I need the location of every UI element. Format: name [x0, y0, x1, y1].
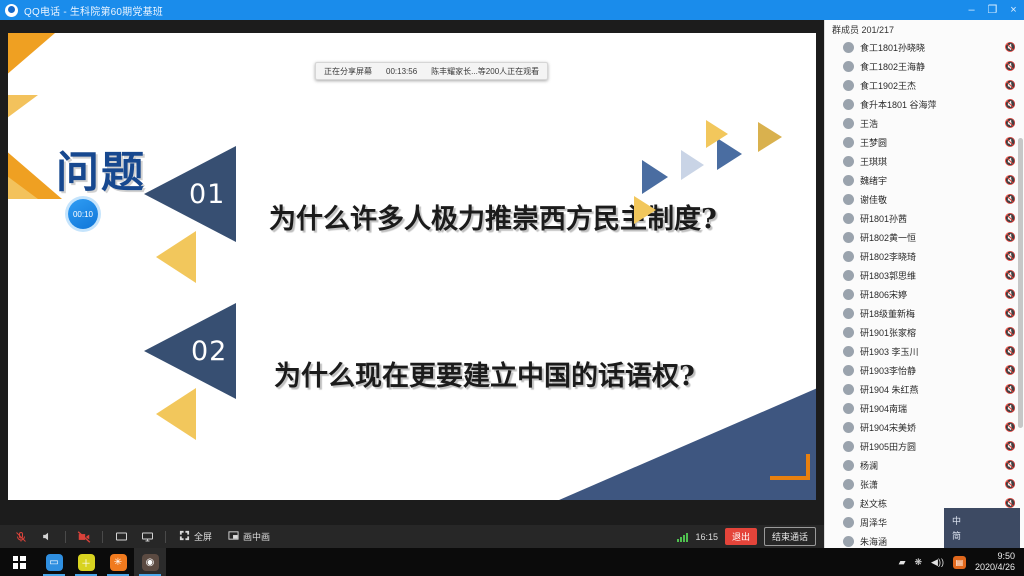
pip-button[interactable]: 画中画 [220, 525, 278, 548]
avatar [843, 251, 854, 262]
system-tray: ▰ ❋ ◀)) ▤ 9:50 2020/4/26 [899, 551, 1024, 573]
video-stage[interactable]: 问题 00:10 01 为什么许多人极力推崇西方民主制度? 02 为什么现在更要… [0, 20, 824, 525]
shared-slide: 问题 00:10 01 为什么许多人极力推崇西方民主制度? 02 为什么现在更要… [8, 33, 816, 500]
self-view-label: 中 简 [952, 514, 961, 544]
slide-timer-badge: 00:10 [68, 199, 98, 229]
member-row[interactable]: 食升本1801 谷海萍🔇 [825, 95, 1024, 114]
member-name: 食工1902王杰 [860, 79, 916, 92]
microphone-off-icon: 🔇 [1005, 118, 1016, 129]
decor-triangle-yellow-3 [758, 122, 782, 152]
microphone-off-icon: 🔇 [1005, 42, 1016, 53]
member-panel-header: 群成员 201/217 [825, 20, 1024, 38]
screen-share-banner: 正在分享屏幕 00:13:56 陈丰耀家长...等200人正在观看 [315, 62, 548, 80]
avatar [843, 422, 854, 433]
member-name: 王浩 [860, 117, 878, 130]
member-name: 研1904 朱红燕 [860, 383, 919, 396]
microphone-off-icon: 🔇 [1005, 61, 1016, 72]
microphone-off-icon: 🔇 [1005, 194, 1016, 205]
decor-orange-triangle-2 [8, 95, 38, 199]
member-name: 研1901张家榕 [860, 326, 916, 339]
start-button[interactable] [0, 548, 38, 576]
speaker-icon[interactable] [34, 525, 60, 548]
share-duration: 00:13:56 [386, 67, 417, 76]
avatar [843, 403, 854, 414]
member-name: 王梦圆 [860, 136, 887, 149]
member-name: 研1802黄一恒 [860, 231, 916, 244]
restore-button[interactable]: ❐ [982, 0, 1003, 20]
volume-icon[interactable]: ◀)) [931, 557, 944, 568]
camera-muted-icon[interactable] [71, 525, 97, 548]
member-name: 谢佳敬 [860, 193, 887, 206]
member-row[interactable]: 研1905田方圆🔇 [825, 437, 1024, 456]
avatar [843, 213, 854, 224]
avatar [843, 498, 854, 509]
end-call-button[interactable]: 结束通话 [764, 527, 816, 546]
windows-taskbar: ▭＋✳◉ ▰ ❋ ◀)) ▤ 9:50 2020/4/26 [0, 548, 1024, 576]
member-name: 张潇 [860, 478, 878, 491]
member-row[interactable]: 研1904南瑞🔇 [825, 399, 1024, 418]
member-row[interactable]: 研1903李怡静🔇 [825, 361, 1024, 380]
microphone-off-icon: 🔇 [1005, 289, 1016, 300]
microphone-off-icon: 🔇 [1005, 270, 1016, 281]
avatar [843, 80, 854, 91]
member-name: 王琪琪 [860, 155, 887, 168]
member-row[interactable]: 研1801孙茜🔇 [825, 209, 1024, 228]
window-title: QQ电话 - 生科院第60期党基班 [24, 3, 163, 18]
divider [165, 531, 166, 543]
member-name: 研1904南瑞 [860, 402, 907, 415]
avatar [843, 270, 854, 281]
self-view-thumbnail[interactable]: 中 简 [944, 508, 1020, 552]
monitor-icon[interactable] [108, 525, 134, 548]
divider [102, 531, 103, 543]
microphone-off-icon: 🔇 [1005, 251, 1016, 262]
member-row[interactable]: 食工1801孙晓晓🔇 [825, 38, 1024, 57]
member-name: 周泽华 [860, 516, 887, 529]
decor-orange-corner [770, 454, 810, 480]
microphone-off-icon: 🔇 [1005, 80, 1016, 91]
member-name: 研1903李怡静 [860, 364, 916, 377]
avatar [843, 118, 854, 129]
member-name: 研1803郭思维 [860, 269, 916, 282]
display-icon[interactable] [134, 525, 160, 548]
colorful-app-icon[interactable]: ✳ [102, 548, 134, 576]
microphone-off-icon: 🔇 [1005, 308, 1016, 319]
video-app-icon[interactable]: ▭ [38, 548, 70, 576]
member-name: 魏绪宇 [860, 174, 887, 187]
avatar [843, 156, 854, 167]
member-row[interactable]: 研1904 朱红燕🔇 [825, 380, 1024, 399]
avatar [843, 99, 854, 110]
member-name: 食工1801孙晓晓 [860, 41, 925, 54]
avatar [843, 365, 854, 376]
avatar [843, 289, 854, 300]
question-number-1: 01 [189, 179, 225, 210]
member-row[interactable]: 研1802李晓琦🔇 [825, 247, 1024, 266]
minimize-button[interactable]: – [961, 0, 982, 20]
avatar [843, 536, 854, 547]
member-row[interactable]: 王浩🔇 [825, 114, 1024, 133]
member-name: 研1905田方圆 [860, 440, 916, 453]
member-row[interactable]: 食工1902王杰🔇 [825, 76, 1024, 95]
avatar [843, 327, 854, 338]
member-list-scrollbar[interactable] [1018, 138, 1023, 428]
decor-triangle-yellow-2 [634, 196, 656, 224]
member-row[interactable]: 王梦圆🔇 [825, 133, 1024, 152]
decor-triangle-blue-1 [642, 160, 668, 194]
member-row[interactable]: 食工1802王海静🔇 [825, 57, 1024, 76]
screen: QQ电话 - 生科院第60期党基班 – ❐ × 问题 00:10 01 为什么许… [0, 0, 1024, 576]
microphone-muted-icon[interactable] [8, 525, 34, 548]
picture-in-picture-icon [228, 530, 239, 543]
pip-label: 画中画 [243, 530, 270, 543]
close-button[interactable]: × [1003, 0, 1024, 20]
member-name: 研1802李晓琦 [860, 250, 916, 263]
avatar [843, 61, 854, 72]
member-row[interactable]: 研1803郭思维🔇 [825, 266, 1024, 285]
qq-avatar-icon[interactable]: ◉ [134, 548, 166, 576]
share-status-text: 正在分享屏幕 [324, 66, 372, 77]
member-name: 研18级董新梅 [860, 307, 915, 320]
avatar [843, 346, 854, 357]
microphone-off-icon: 🔇 [1005, 156, 1016, 167]
member-list[interactable]: 食工1801孙晓晓🔇食工1802王海静🔇食工1902王杰🔇食升本1801 谷海萍… [825, 38, 1024, 548]
taskbar-apps: ▭＋✳◉ [38, 548, 166, 576]
member-name: 朱海涵 [860, 535, 887, 548]
tray-app-icon[interactable]: ▤ [953, 556, 966, 569]
member-name: 研1806宋婷 [860, 288, 907, 301]
member-name: 食工1802王海静 [860, 60, 925, 73]
member-row[interactable]: 研1802黄一恒🔇 [825, 228, 1024, 247]
avatar [843, 308, 854, 319]
microphone-off-icon: 🔇 [1005, 232, 1016, 243]
question-number-2: 02 [191, 336, 227, 367]
microphone-off-icon: 🔇 [1005, 346, 1016, 357]
divider [65, 531, 66, 543]
member-row[interactable]: 杨澜🔇 [825, 456, 1024, 475]
microphone-off-icon: 🔇 [1005, 422, 1016, 433]
decor-navy-wedge [536, 380, 816, 500]
member-name: 赵文栋 [860, 497, 887, 510]
network-icon[interactable]: ❋ [914, 557, 922, 568]
member-row[interactable]: 魏绪宇🔇 [825, 171, 1024, 190]
window-controls: – ❐ × [961, 0, 1024, 20]
member-name: 研1904宋美娇 [860, 421, 916, 434]
fullscreen-button[interactable]: 全屏 [171, 525, 220, 548]
microphone-off-icon: 🔇 [1005, 137, 1016, 148]
microphone-off-icon: 🔇 [1005, 441, 1016, 452]
member-row[interactable]: 谢佳敬🔇 [825, 190, 1024, 209]
microphone-off-icon: 🔇 [1005, 479, 1016, 490]
microphone-off-icon: 🔇 [1005, 403, 1016, 414]
share-viewers: 陈丰耀家长...等200人正在观看 [431, 66, 539, 77]
slide-heading: 问题 [56, 138, 146, 200]
microphone-off-icon: 🔇 [1005, 99, 1016, 110]
microphone-off-icon: 🔇 [1005, 365, 1016, 376]
avatar [843, 42, 854, 53]
microphone-off-icon: 🔇 [1005, 327, 1016, 338]
member-row[interactable]: 张潇🔇 [825, 475, 1024, 494]
avatar [843, 175, 854, 186]
decor-triangle-yellow-1 [706, 120, 728, 148]
member-row[interactable]: 研1903 李玉川🔇 [825, 342, 1024, 361]
member-row[interactable]: 研1904宋美娇🔇 [825, 418, 1024, 437]
microphone-off-icon: 🔇 [1005, 213, 1016, 224]
signal-bars-icon [677, 532, 688, 542]
avatar [843, 479, 854, 490]
member-name: 杨澜 [860, 459, 878, 472]
microphone-off-icon: 🔇 [1005, 175, 1016, 186]
qq-penguin-icon [5, 4, 18, 17]
member-row[interactable]: 王琪琪🔇 [825, 152, 1024, 171]
window-title-bar: QQ电话 - 生科院第60期党基班 – ❐ × [0, 0, 1024, 20]
member-name: 研1903 李玉川 [860, 345, 919, 358]
avatar [843, 441, 854, 452]
microphone-off-icon: 🔇 [1005, 384, 1016, 395]
decor-triangle-light-1 [681, 150, 704, 180]
member-row[interactable]: 研18级董新梅🔇 [825, 304, 1024, 323]
quit-button[interactable]: 退出 [725, 528, 757, 545]
avatar [843, 137, 854, 148]
avatar [843, 384, 854, 395]
avatar [843, 517, 854, 528]
member-name: 研1801孙茜 [860, 212, 907, 225]
member-row[interactable]: 研1901张家榕🔇 [825, 323, 1024, 342]
microphone-off-icon: 🔇 [1005, 460, 1016, 471]
battery-icon[interactable]: ▰ [899, 557, 906, 568]
call-control-bar: 全屏 画中画 16:15 退出 结束通话 [0, 525, 824, 548]
member-name: 食升本1801 谷海萍 [860, 98, 937, 111]
avatar [843, 232, 854, 243]
fullscreen-icon [179, 530, 190, 543]
taskbar-clock[interactable]: 9:50 2020/4/26 [975, 551, 1015, 573]
member-row[interactable]: 研1806宋婷🔇 [825, 285, 1024, 304]
call-status-group: 16:15 退出 结束通话 [677, 527, 816, 546]
call-duration: 16:15 [695, 532, 718, 542]
avatar [843, 460, 854, 471]
member-panel: 群成员 201/217 食工1801孙晓晓🔇食工1802王海静🔇食工1902王杰… [824, 20, 1024, 548]
fullscreen-label: 全屏 [194, 530, 212, 543]
security-app-icon[interactable]: ＋ [70, 548, 102, 576]
avatar [843, 194, 854, 205]
windows-logo-icon [13, 556, 26, 569]
